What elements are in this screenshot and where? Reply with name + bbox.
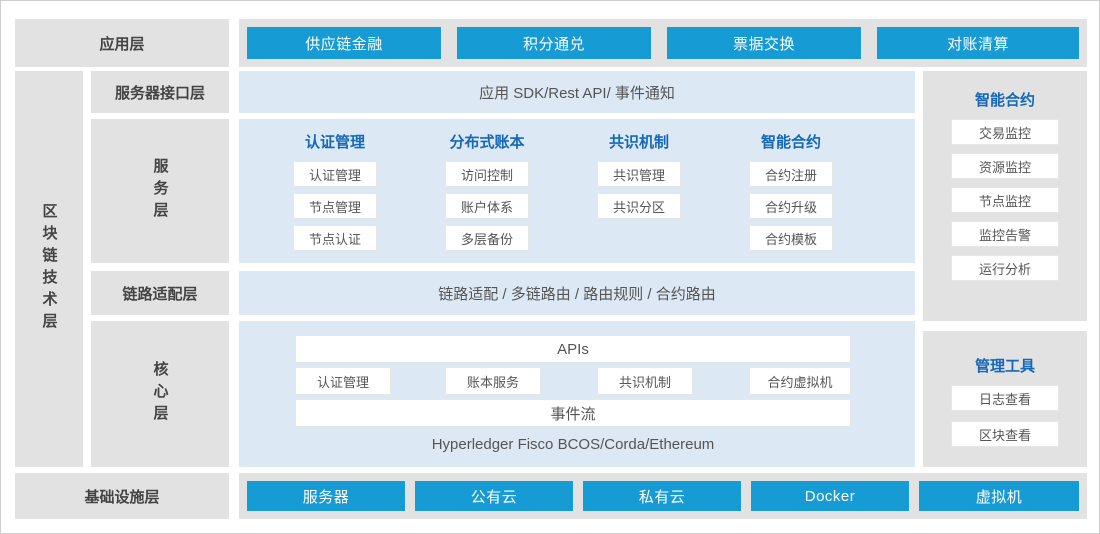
app-button-supply-chain-finance-label: 供应链金融 [305, 33, 383, 54]
core-module-consensus-mechanism[interactable]: 共识机制 [597, 367, 693, 395]
service-item-c2-r1[interactable]: 访问控制 [445, 161, 529, 187]
right-panel-item-transaction-monitor-label: 交易监控 [979, 123, 1031, 142]
service-item-c2-r2-label: 账户体系 [461, 197, 513, 216]
right-panel-item-resource-monitor[interactable]: 资源监控 [951, 153, 1059, 179]
app-button-reconciliation-settlement-label: 对账清算 [947, 33, 1009, 54]
right-panel-item-resource-monitor-label: 资源监控 [979, 157, 1031, 176]
application-layer-label: 应用层 [15, 19, 229, 67]
blockchain-tech-layer-label-text: 区块链技术层 [42, 203, 57, 335]
core-layer-footer-text: Hyperledger Fisco BCOS/Corda/Ethereum [432, 436, 715, 453]
right-panel-item-block-viewer[interactable]: 区块查看 [951, 421, 1059, 447]
service-layer-panel: 认证管理 认证管理 节点管理 节点认证 分布式账本 访问控制 账户体系 多层备份… [239, 119, 915, 263]
infra-button-public-cloud-label: 公有云 [471, 486, 518, 507]
service-layer-label: 服务层 [91, 119, 229, 263]
infra-button-public-cloud[interactable]: 公有云 [415, 481, 573, 511]
service-item-c4-r2[interactable]: 合约升级 [749, 193, 833, 219]
service-item-c1-r1-label: 认证管理 [309, 165, 361, 184]
right-panel-item-log-viewer-label: 日志查看 [979, 389, 1031, 408]
core-module-identity-management[interactable]: 认证管理 [295, 367, 391, 395]
core-apis-bar[interactable]: APIs [295, 335, 851, 363]
server-interface-layer-label: 服务器接口层 [91, 71, 229, 113]
core-layer-footer: Hyperledger Fisco BCOS/Corda/Ethereum [295, 429, 851, 459]
right-panel-item-transaction-monitor[interactable]: 交易监控 [951, 119, 1059, 145]
infrastructure-layer-label-text: 基础设施层 [84, 486, 159, 507]
service-column-head-identity-management: 认证管理 [257, 131, 413, 152]
service-item-c2-r3[interactable]: 多层备份 [445, 225, 529, 251]
service-item-c2-r2[interactable]: 账户体系 [445, 193, 529, 219]
infra-button-server[interactable]: 服务器 [247, 481, 405, 511]
server-interface-layer-content: 应用 SDK/Rest API/ 事件通知 [239, 71, 915, 113]
core-event-stream-bar-label: 事件流 [550, 403, 595, 424]
right-panel-management-tools-head: 管理工具 [923, 355, 1087, 376]
service-item-c3-r1[interactable]: 共识管理 [597, 161, 681, 187]
blockchain-tech-layer-label: 区块链技术层 [15, 71, 83, 467]
core-module-identity-management-label: 认证管理 [317, 372, 369, 391]
service-item-c1-r3[interactable]: 节点认证 [293, 225, 377, 251]
core-module-contract-vm[interactable]: 合约虚拟机 [749, 367, 851, 395]
app-button-reconciliation-settlement[interactable]: 对账清算 [877, 27, 1079, 59]
core-module-ledger-service[interactable]: 账本服务 [445, 367, 541, 395]
service-column-head-identity-management-text: 认证管理 [305, 134, 365, 151]
infra-button-private-cloud[interactable]: 私有云 [583, 481, 741, 511]
right-panel-smart-contract-head: 智能合约 [923, 89, 1087, 110]
service-item-c3-r2[interactable]: 共识分区 [597, 193, 681, 219]
infra-button-virtual-machine[interactable]: 虚拟机 [919, 481, 1079, 511]
service-item-c4-r3[interactable]: 合约模板 [749, 225, 833, 251]
core-module-ledger-service-label: 账本服务 [467, 372, 519, 391]
service-item-c3-r1-label: 共识管理 [613, 165, 665, 184]
core-module-consensus-mechanism-label: 共识机制 [619, 372, 671, 391]
service-column-head-smart-contract: 智能合约 [713, 131, 869, 152]
architecture-diagram: 应用层 供应链金融 积分通兑 票据交换 对账清算 区块链技术层 服务器接口层 应… [0, 0, 1100, 534]
service-column-head-consensus-mechanism-text: 共识机制 [609, 134, 669, 151]
service-layer-label-text: 服务层 [153, 158, 168, 224]
service-item-c1-r3-label: 节点认证 [309, 229, 361, 248]
service-item-c4-r1[interactable]: 合约注册 [749, 161, 833, 187]
right-panel-management-tools: 管理工具 日志查看 区块查看 [923, 331, 1087, 467]
infrastructure-layer-strip: 服务器 公有云 私有云 Docker 虚拟机 [239, 473, 1087, 519]
app-button-bill-exchange[interactable]: 票据交换 [667, 27, 861, 59]
service-column-head-distributed-ledger-text: 分布式账本 [449, 134, 524, 151]
app-button-supply-chain-finance[interactable]: 供应链金融 [247, 27, 441, 59]
core-event-stream-bar[interactable]: 事件流 [295, 399, 851, 427]
core-module-contract-vm-label: 合约虚拟机 [767, 372, 832, 391]
right-panel-item-log-viewer[interactable]: 日志查看 [951, 385, 1059, 411]
infra-button-server-label: 服务器 [303, 486, 350, 507]
app-button-points-exchange-label: 积分通兑 [523, 33, 585, 54]
right-panel-item-monitor-alarm[interactable]: 监控告警 [951, 221, 1059, 247]
service-item-c4-r2-label: 合约升级 [765, 197, 817, 216]
server-interface-layer-label-text: 服务器接口层 [115, 82, 205, 103]
service-item-c2-r1-label: 访问控制 [461, 165, 513, 184]
core-layer-label: 核心层 [91, 321, 229, 467]
right-panel-smart-contract: 智能合约 交易监控 资源监控 节点监控 监控告警 运行分析 [923, 71, 1087, 321]
app-button-points-exchange[interactable]: 积分通兑 [457, 27, 651, 59]
service-item-c4-r1-label: 合约注册 [765, 165, 817, 184]
right-panel-management-tools-head-text: 管理工具 [975, 358, 1035, 375]
right-panel-item-node-monitor-label: 节点监控 [979, 191, 1031, 210]
service-column-head-consensus-mechanism: 共识机制 [561, 131, 717, 152]
right-panel-item-runtime-analysis-label: 运行分析 [979, 259, 1031, 278]
app-button-bill-exchange-label: 票据交换 [733, 33, 795, 54]
link-adapter-layer-label: 链路适配层 [91, 271, 229, 315]
service-item-c1-r1[interactable]: 认证管理 [293, 161, 377, 187]
core-layer-label-text: 核心层 [153, 361, 168, 427]
infra-button-virtual-machine-label: 虚拟机 [976, 486, 1023, 507]
right-panel-smart-contract-head-text: 智能合约 [975, 92, 1035, 109]
application-layer-strip: 供应链金融 积分通兑 票据交换 对账清算 [239, 19, 1087, 67]
infrastructure-layer-label: 基础设施层 [15, 473, 229, 519]
infra-button-docker-label: Docker [805, 488, 856, 505]
server-interface-layer-content-text: 应用 SDK/Rest API/ 事件通知 [479, 82, 675, 103]
right-panel-item-node-monitor[interactable]: 节点监控 [951, 187, 1059, 213]
link-adapter-layer-label-text: 链路适配层 [122, 283, 197, 304]
infra-button-private-cloud-label: 私有云 [639, 486, 686, 507]
link-adapter-layer-content-text: 链路适配 / 多链路由 / 路由规则 / 合约路由 [438, 283, 716, 304]
core-layer-panel: APIs 认证管理 账本服务 共识机制 合约虚拟机 事件流 Hyperledge… [239, 321, 915, 467]
service-item-c4-r3-label: 合约模板 [765, 229, 817, 248]
service-column-head-smart-contract-text: 智能合约 [761, 134, 821, 151]
service-item-c1-r2[interactable]: 节点管理 [293, 193, 377, 219]
service-column-head-distributed-ledger: 分布式账本 [409, 131, 565, 152]
application-layer-label-text: 应用层 [99, 33, 144, 54]
link-adapter-layer-content: 链路适配 / 多链路由 / 路由规则 / 合约路由 [239, 271, 915, 315]
service-item-c1-r2-label: 节点管理 [309, 197, 361, 216]
service-item-c3-r2-label: 共识分区 [613, 197, 665, 216]
core-apis-bar-label: APIs [557, 341, 589, 358]
right-panel-item-block-viewer-label: 区块查看 [979, 425, 1031, 444]
infra-button-docker[interactable]: Docker [751, 481, 909, 511]
service-item-c2-r3-label: 多层备份 [461, 229, 513, 248]
right-panel-item-runtime-analysis[interactable]: 运行分析 [951, 255, 1059, 281]
right-panel-item-monitor-alarm-label: 监控告警 [979, 225, 1031, 244]
